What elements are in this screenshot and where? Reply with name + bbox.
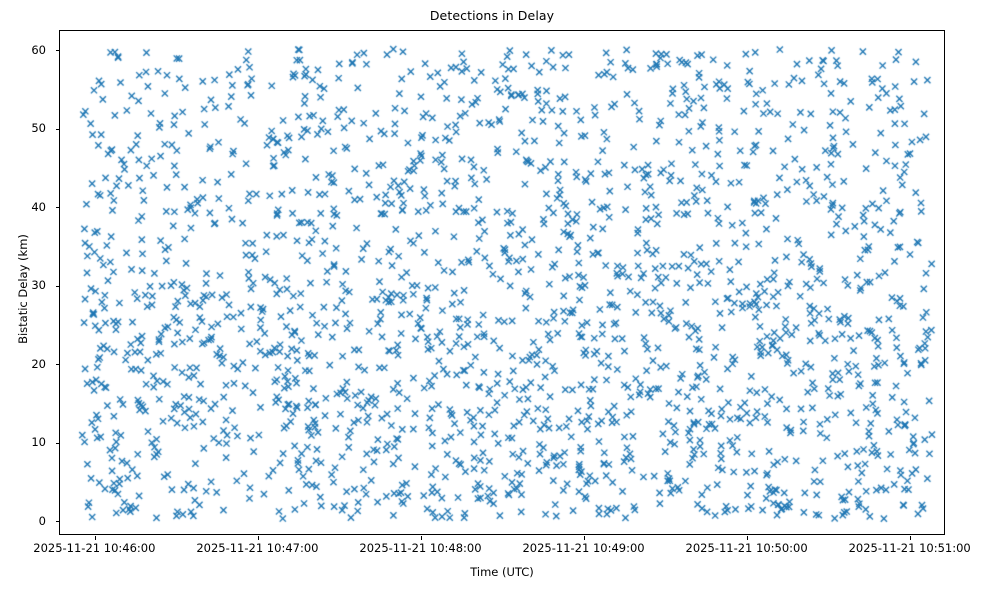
y-tick-label: 10 xyxy=(0,435,46,449)
y-tick-label: 0 xyxy=(0,514,46,528)
page-title: Detections in Delay xyxy=(0,8,984,23)
x-tick-mark xyxy=(95,536,96,540)
y-tick-mark xyxy=(56,207,60,208)
y-tick-mark xyxy=(56,129,60,130)
x-tick-label: 2025-11-21 10:46:00 xyxy=(33,541,155,555)
y-tick-mark xyxy=(56,286,60,287)
x-tick-mark xyxy=(747,536,748,540)
x-tick-label: 2025-11-21 10:49:00 xyxy=(522,541,644,555)
y-tick-mark xyxy=(56,364,60,365)
scatter-plot-canvas xyxy=(60,31,946,536)
x-tick-label: 2025-11-21 10:51:00 xyxy=(849,541,971,555)
x-tick-mark xyxy=(421,536,422,540)
y-tick-mark xyxy=(56,521,60,522)
plot-axes xyxy=(59,30,945,535)
x-tick-mark xyxy=(910,536,911,540)
x-tick-label: 2025-11-21 10:50:00 xyxy=(686,541,808,555)
y-tick-mark xyxy=(56,50,60,51)
y-tick-mark xyxy=(56,443,60,444)
x-tick-mark xyxy=(258,536,259,540)
x-tick-label: 2025-11-21 10:48:00 xyxy=(359,541,481,555)
y-axis-label: Bistatic Delay (km) xyxy=(16,144,30,434)
x-tick-label: 2025-11-21 10:47:00 xyxy=(196,541,318,555)
matplotlib-figure: Detections in Delay 0102030405060 2025-1… xyxy=(0,0,984,590)
x-axis-label: Time (UTC) xyxy=(59,565,945,579)
y-tick-label: 60 xyxy=(0,43,46,57)
y-tick-label: 50 xyxy=(0,121,46,135)
x-tick-mark xyxy=(584,536,585,540)
